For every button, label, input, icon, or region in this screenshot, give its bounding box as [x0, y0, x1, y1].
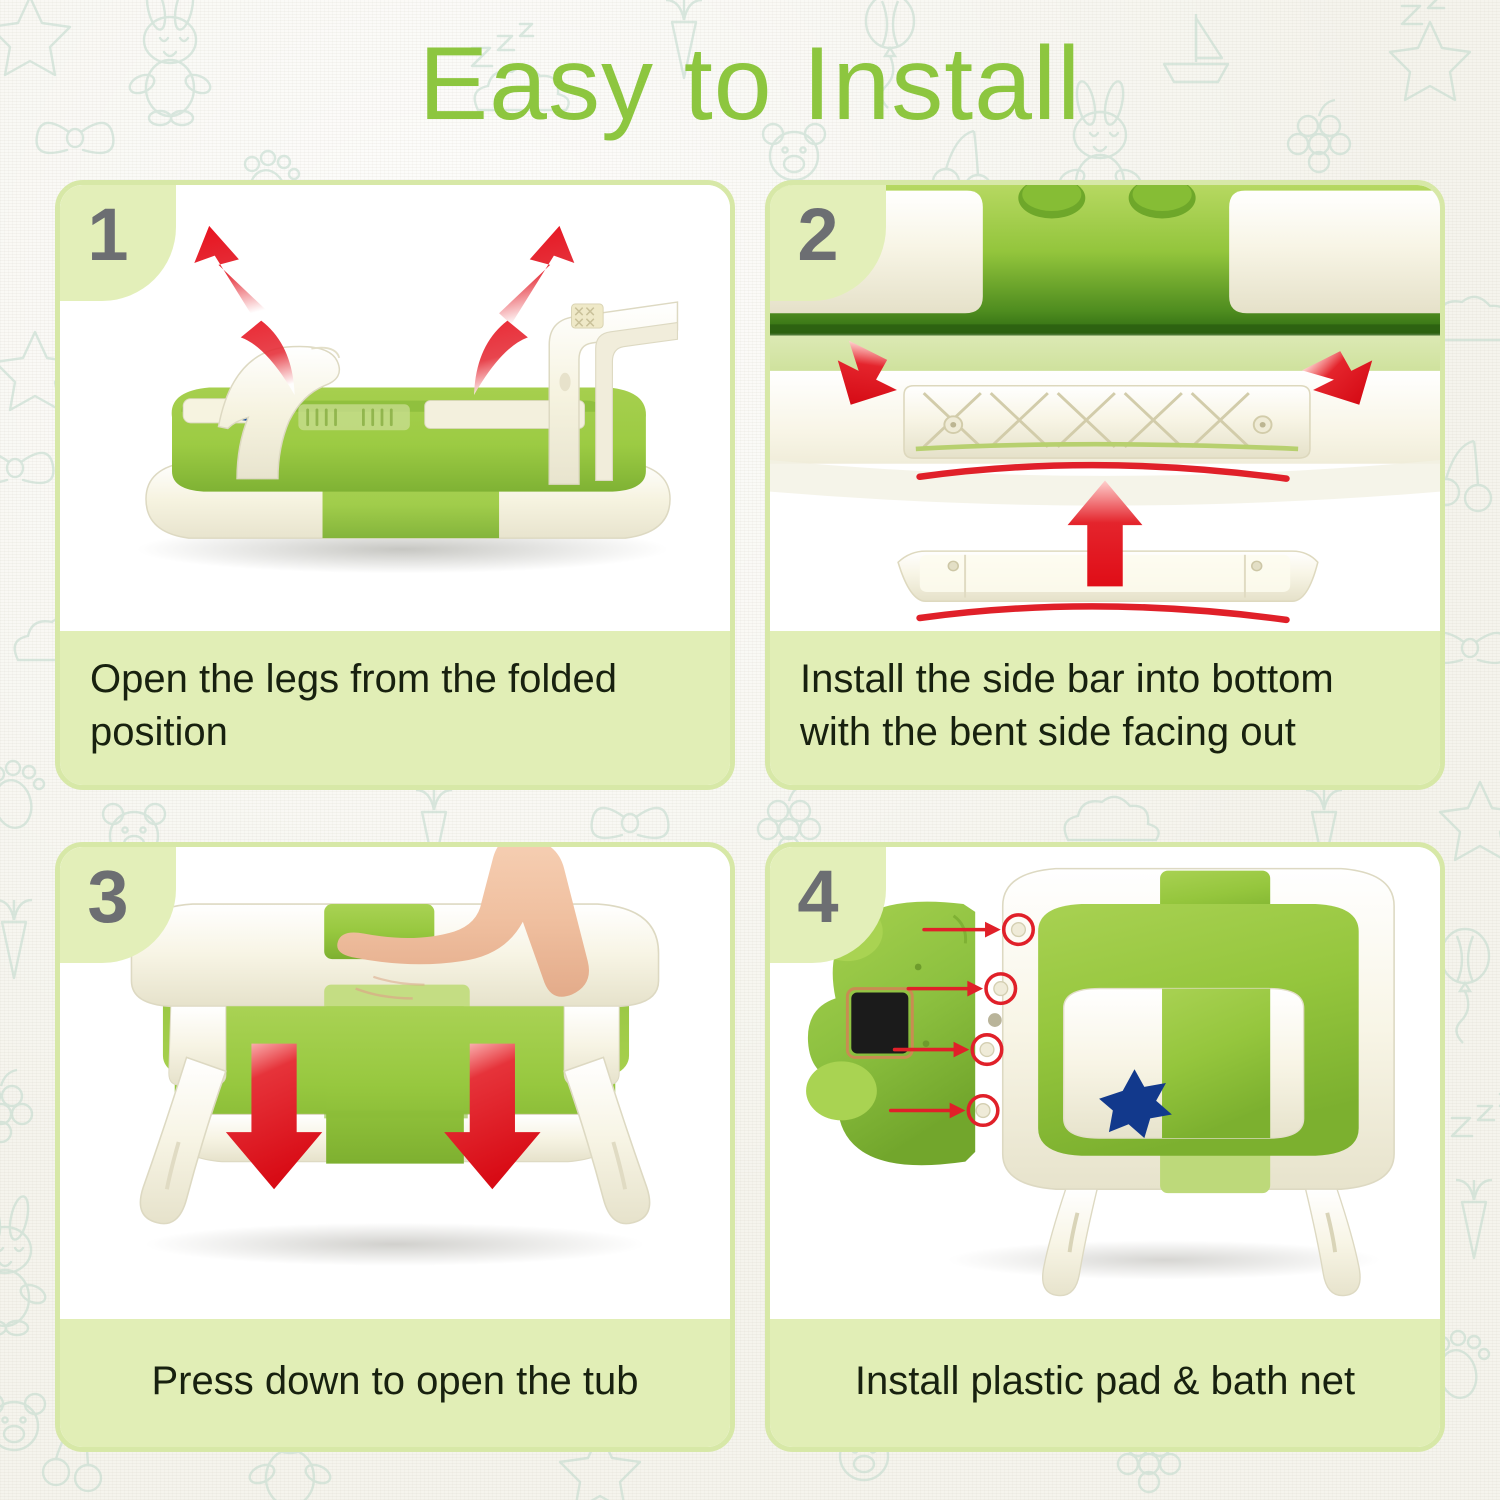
installed-side-bar [904, 386, 1310, 458]
step-card-3: 3 Press down to open the tub [55, 842, 735, 1452]
step-2-caption: Install the side bar into bottom with th… [770, 631, 1440, 785]
step-card-4: 4 Install plastic pad & bath net [765, 842, 1445, 1452]
step-2-number: 2 [797, 198, 838, 272]
step-1-caption: Open the legs from the folded position [60, 631, 730, 785]
step-4-number: 4 [797, 860, 838, 934]
steps-grid: 1 Open the legs from the folded position [55, 180, 1445, 1452]
step-2-figure: 2 [770, 185, 1440, 631]
step-card-1: 1 Open the legs from the folded position [55, 180, 735, 790]
step-3-number: 3 [87, 860, 128, 934]
pad-window [851, 993, 908, 1054]
step-3-figure: 3 [60, 847, 730, 1319]
step-1-figure: 1 [60, 185, 730, 631]
side-vent-hole [988, 1013, 1002, 1027]
page-title: Easy to Install [0, 24, 1500, 144]
leg-hinge [572, 304, 604, 328]
step-3-caption: Press down to open the tub [60, 1319, 730, 1447]
step-card-2: 2 Install the side bar into bottom with … [765, 180, 1445, 790]
step-4-caption: Install plastic pad & bath net [770, 1319, 1440, 1447]
step-4-figure: 4 [770, 847, 1440, 1319]
step-1-number: 1 [87, 198, 128, 272]
